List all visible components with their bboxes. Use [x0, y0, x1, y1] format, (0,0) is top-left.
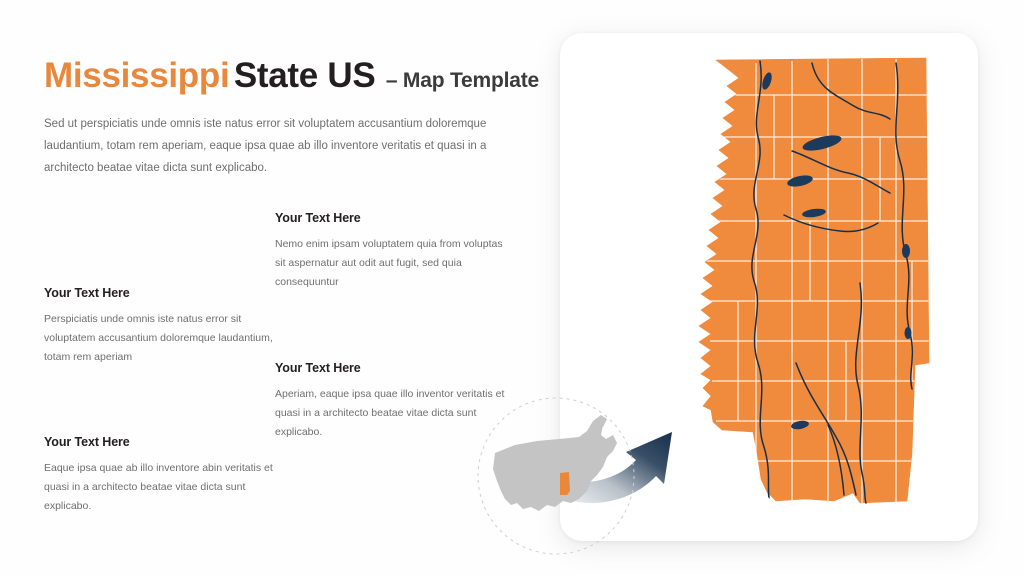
text-block-2: Your Text Here Perspiciatis unde omnis i… — [44, 286, 279, 367]
text-block-4-heading: Your Text Here — [44, 435, 279, 449]
text-block-1: Your Text Here Nemo enim ipsam voluptate… — [275, 211, 510, 292]
text-block-1-heading: Your Text Here — [275, 211, 510, 225]
text-block-2-body: Perspiciatis unde omnis iste natus error… — [44, 310, 279, 367]
intro-paragraph: Sed ut perspiciatis unde omnis iste natu… — [44, 113, 514, 179]
highlighted-state-mississippi[interactable] — [560, 472, 570, 495]
text-block-2-heading: Your Text Here — [44, 286, 279, 300]
text-block-4: Your Text Here Eaque ipsa quae ab illo i… — [44, 435, 279, 516]
text-block-3-heading: Your Text Here — [275, 361, 510, 375]
page-title: Mississippi State US – Map Template — [44, 58, 539, 93]
title-accent: Mississippi — [44, 56, 229, 95]
state-polygon — [699, 58, 929, 503]
slide-root: Mississippi State US – Map Template Sed … — [0, 0, 1024, 576]
text-block-1-body: Nemo enim ipsam voluptatem quia from vol… — [275, 235, 510, 292]
us-locator-map[interactable] — [475, 395, 637, 557]
us-landmass — [493, 415, 617, 511]
title-subtitle: – Map Template — [386, 69, 539, 92]
text-block-4-body: Eaque ipsa quae ab illo inventore abin v… — [44, 459, 279, 516]
title-dark: State US — [234, 56, 376, 95]
